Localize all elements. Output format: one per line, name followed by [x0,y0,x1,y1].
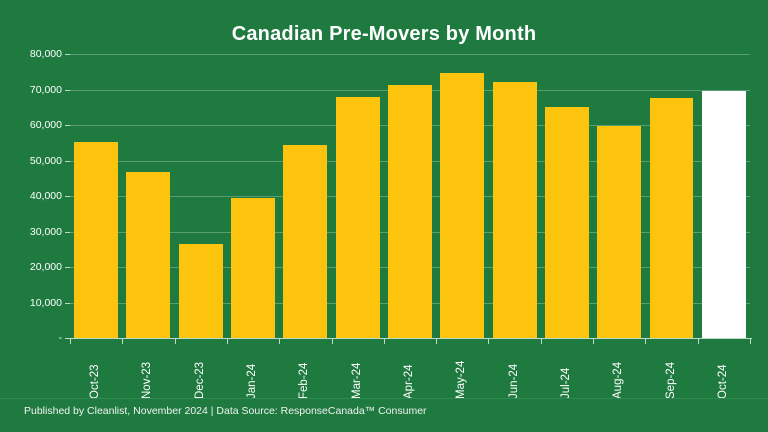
y-tick-label: 10,000 [0,297,62,309]
x-tick-label: Sep-24 [665,347,679,399]
footer-attribution: Published by Cleanlist, November 2024 | … [24,404,427,418]
x-tick-label-text: May-24 [455,361,467,399]
bar-aug-24[interactable] [597,126,641,338]
x-tick-label: May-24 [455,347,469,399]
x-tick-label-text: Nov-23 [141,362,153,399]
chart-title: Canadian Pre-Movers by Month [0,22,768,46]
bar-jan-24[interactable] [231,198,275,338]
chart-container: Canadian Pre-Movers by Month 80,00070,00… [0,0,768,432]
x-tick-label: Oct-24 [717,347,731,399]
x-tick-label-text: Jul-24 [560,368,572,399]
bar-dec-23[interactable] [179,244,223,338]
x-tick-mark [645,339,646,344]
bar-slot [175,54,227,338]
x-tick-label: Feb-24 [298,347,312,399]
bar-jul-24[interactable] [545,107,589,338]
x-tick-mark [541,339,542,344]
bar-mar-24[interactable] [336,97,380,338]
bar-slot [332,54,384,338]
x-tick-label: Nov-23 [141,347,155,399]
x-axis: Oct-23Nov-23Dec-23Jan-24Feb-24Mar-24Apr-… [70,339,750,399]
x-tick-label-text: Dec-23 [194,362,206,399]
x-tick-mark [332,339,333,344]
y-tick-label: - [0,332,62,344]
x-tick-mark [384,339,385,344]
x-tick-mark [122,339,123,344]
y-axis: 80,00070,00060,00050,00040,00030,00020,0… [0,0,62,432]
x-tick-label-text: Mar-24 [351,363,363,399]
bar-jun-24[interactable] [493,82,537,338]
y-tick-label: 30,000 [0,226,62,238]
x-tick-label-text: Jan-24 [246,364,258,399]
x-tick-label: Aug-24 [612,347,626,399]
bar-oct-24[interactable] [702,91,746,338]
x-tick-mark [175,339,176,344]
x-tick-label: Jan-24 [246,347,260,399]
x-tick-label: Oct-23 [89,347,103,399]
x-tick-label: Dec-23 [194,347,208,399]
bar-slot [436,54,488,338]
bar-feb-24[interactable] [283,145,327,338]
y-tick-label: 20,000 [0,261,62,273]
x-tick-label: Mar-24 [351,347,365,399]
bar-oct-23[interactable] [74,142,118,338]
x-tick-mark [488,339,489,344]
x-tick-mark [750,339,751,344]
y-tick-label: 70,000 [0,84,62,96]
x-tick-mark [70,339,71,344]
bar-slot [227,54,279,338]
x-tick-label-text: Jun-24 [508,364,520,399]
bar-slot [541,54,593,338]
x-tick-mark [436,339,437,344]
y-tick-label: 80,000 [0,48,62,60]
bar-slot [122,54,174,338]
bar-slot [279,54,331,338]
bar-slot [384,54,436,338]
x-tick-label-text: Apr-24 [403,364,415,399]
x-tick-label-text: Feb-24 [298,363,310,399]
x-tick-label: Jul-24 [560,347,574,399]
x-tick-mark [698,339,699,344]
bar-slot [70,54,122,338]
x-tick-label-text: Sep-24 [665,362,677,399]
bar-slot [488,54,540,338]
bar-may-24[interactable] [440,73,484,338]
x-tick-label-text: Oct-23 [89,364,101,399]
x-tick-mark [227,339,228,344]
x-tick-label-text: Oct-24 [717,364,729,399]
bar-apr-24[interactable] [388,85,432,338]
x-tick-label: Jun-24 [508,347,522,399]
footer-divider [0,398,768,399]
bar-nov-23[interactable] [126,172,170,338]
y-tick-label: 50,000 [0,155,62,167]
bar-slot [593,54,645,338]
x-tick-label-text: Aug-24 [612,362,624,399]
bar-sep-24[interactable] [650,98,694,338]
bar-slot [645,54,697,338]
x-tick-label: Apr-24 [403,347,417,399]
y-tick-label: 60,000 [0,119,62,131]
x-tick-mark [593,339,594,344]
bar-slot [698,54,750,338]
plot-area [70,54,750,338]
x-tick-mark [279,339,280,344]
y-tick-label: 40,000 [0,190,62,202]
